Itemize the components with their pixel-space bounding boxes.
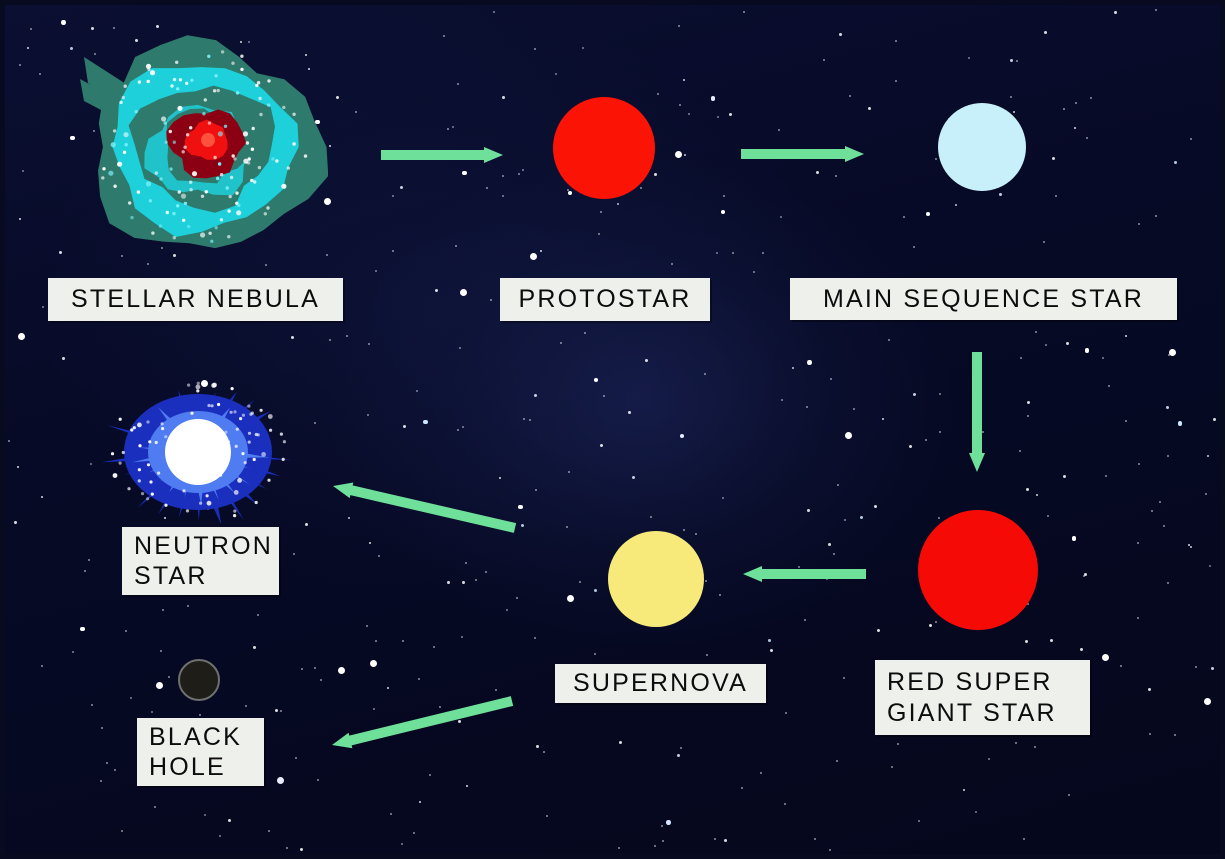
star-life-cycle-diagram: STELLAR NEBULA PROTOSTAR MAIN SEQUENCE S… — [0, 0, 1225, 859]
nebula-icon — [78, 35, 328, 265]
label-neutron-star[interactable]: NEUTRON STAR — [122, 527, 279, 595]
label-text: STELLAR NEBULA — [71, 284, 320, 315]
arrow-main-sequence-to-red-giant — [944, 326, 1010, 498]
label-main-sequence-star[interactable]: MAIN SEQUENCE STAR — [790, 278, 1177, 320]
black-disc-icon — [178, 659, 220, 701]
label-text-line1: RED SUPER — [887, 667, 1053, 698]
label-text-line2: STAR — [134, 561, 208, 592]
large-red-disc-icon — [918, 510, 1038, 630]
red-disc-icon — [553, 97, 655, 199]
label-supernova[interactable]: SUPERNOVA — [555, 664, 766, 703]
pale-blue-disc-icon — [938, 103, 1026, 191]
arrow-red-giant-to-supernova — [717, 541, 892, 607]
arrow-nebula-to-protostar — [355, 122, 529, 188]
label-stellar-nebula[interactable]: STELLAR NEBULA — [48, 278, 343, 321]
label-protostar[interactable]: PROTOSTAR — [500, 278, 710, 321]
label-red-super-giant-star[interactable]: RED SUPER GIANT STAR — [875, 660, 1090, 735]
label-text-line2: HOLE — [149, 752, 226, 783]
label-text-line1: NEUTRON — [134, 531, 273, 562]
yellow-disc-icon — [608, 531, 704, 627]
label-black-hole[interactable]: BLACK HOLE — [137, 718, 264, 786]
label-text-line2: GIANT STAR — [887, 698, 1057, 729]
label-text-line1: BLACK — [149, 722, 242, 753]
label-text: PROTOSTAR — [518, 284, 691, 315]
label-text: MAIN SEQUENCE STAR — [823, 284, 1144, 315]
blue-burst-icon — [93, 367, 303, 537]
label-text: SUPERNOVA — [573, 668, 748, 699]
arrow-protostar-to-main-sequence — [715, 121, 890, 187]
